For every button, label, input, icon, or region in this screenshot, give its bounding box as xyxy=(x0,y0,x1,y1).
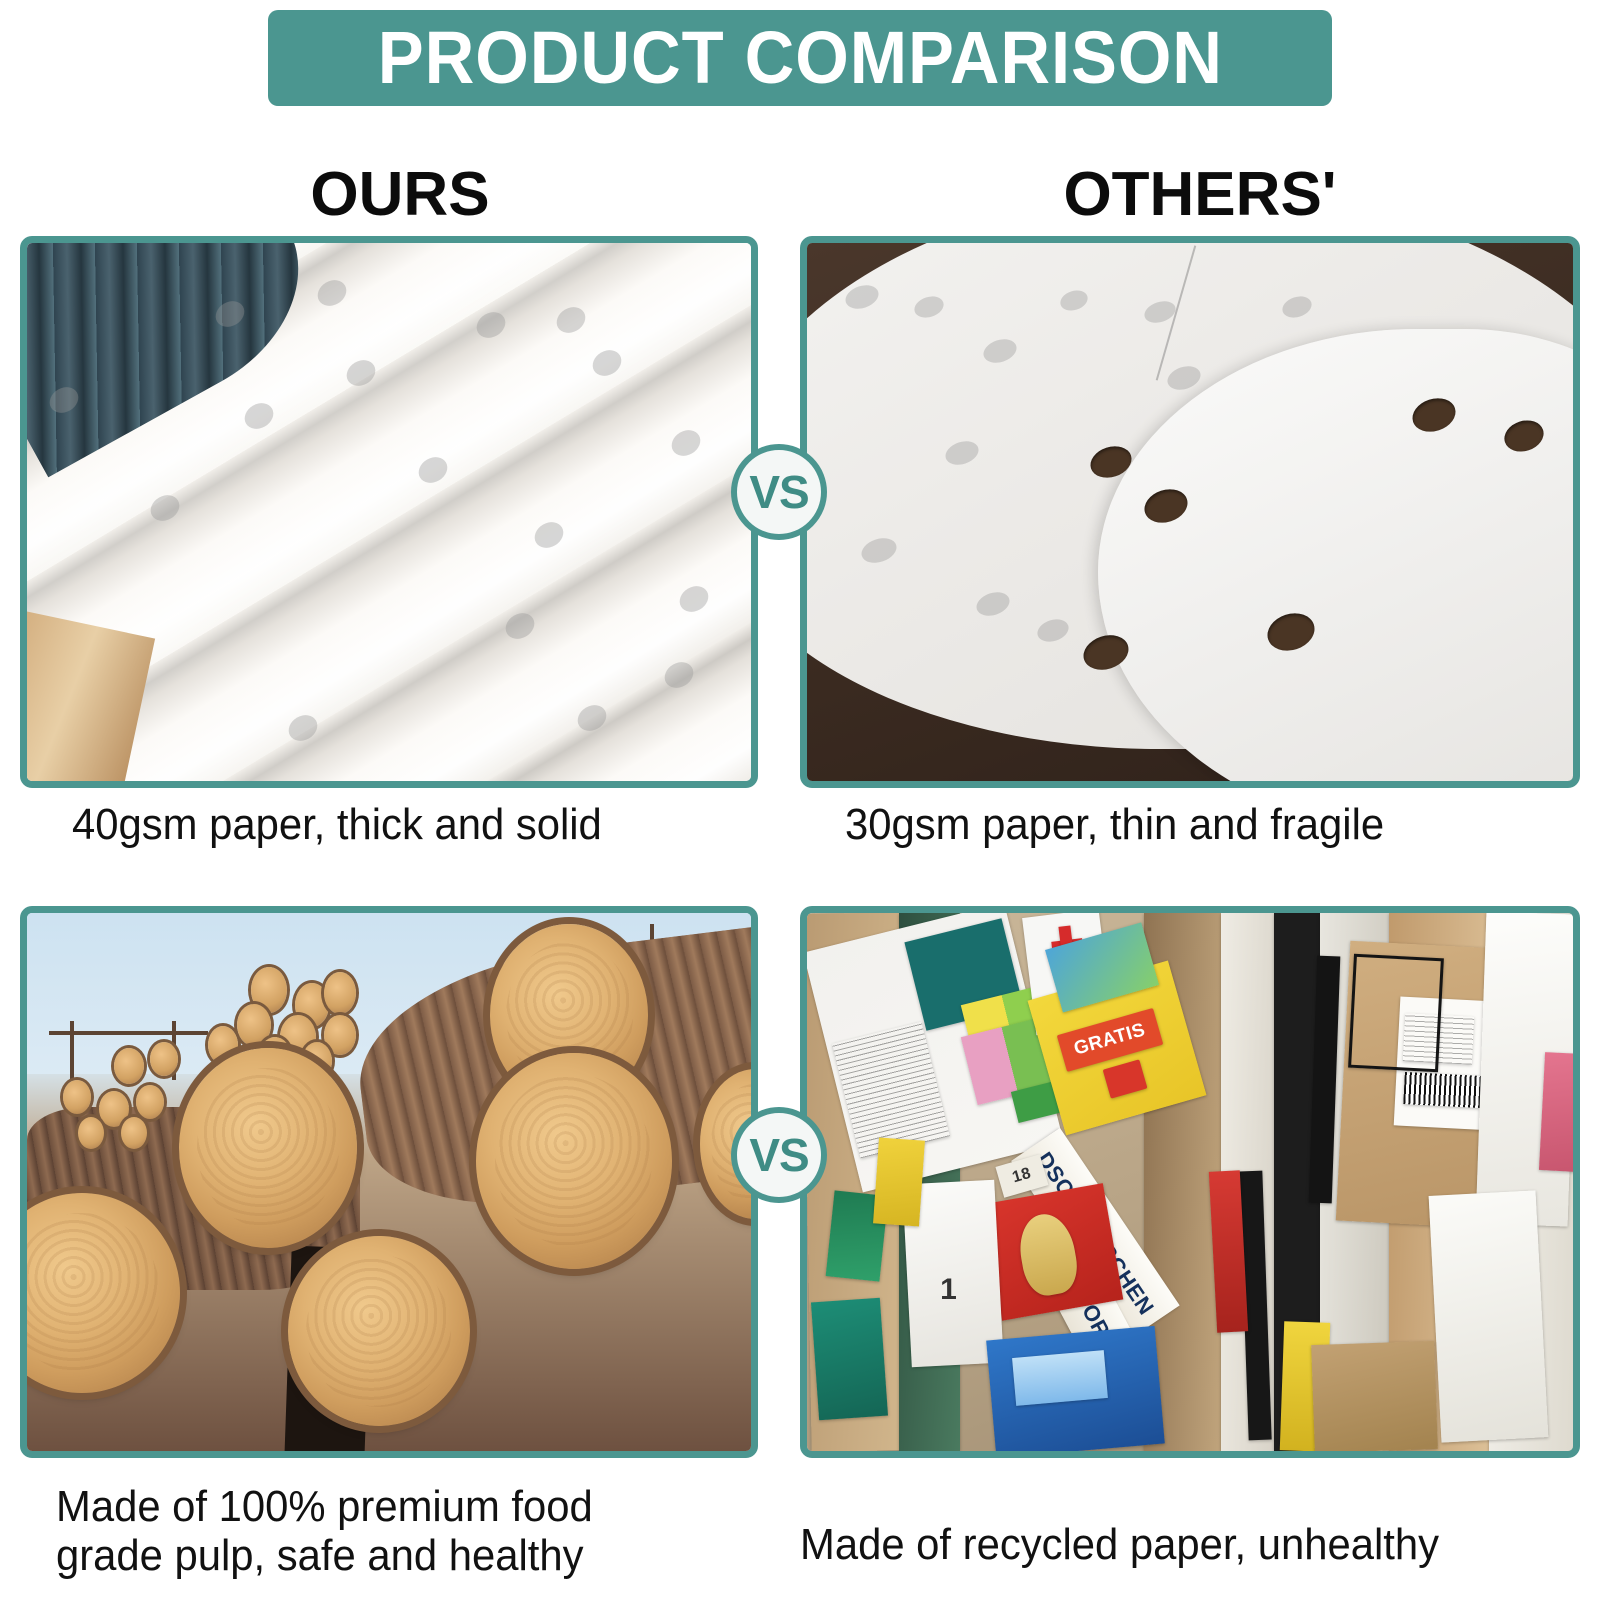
log-end-small xyxy=(136,1085,164,1119)
caption-ours-paper: 40gsm paper, thick and solid xyxy=(72,800,756,849)
image-panel-ours-paper xyxy=(20,236,758,788)
caption-ours-material: Made of 100% premium food grade pulp, sa… xyxy=(56,1482,721,1581)
log-end-small xyxy=(150,1042,178,1076)
page-title-banner: PRODUCT COMPARISON xyxy=(268,10,1332,106)
photo-thin-parchment-paper xyxy=(807,243,1573,781)
caption-others-paper: 30gsm paper, thin and fragile xyxy=(845,800,1548,849)
barcode-icon xyxy=(1404,1072,1482,1108)
vs-badge-row-1: VS xyxy=(731,444,827,540)
brown-box-scrap xyxy=(1311,1341,1437,1451)
photo-thick-parchment-paper xyxy=(27,243,751,781)
image-panel-others-paper xyxy=(800,236,1580,788)
image-panel-ours-material xyxy=(20,906,758,1458)
photo-recycled-paper-waste: GRATIS DSCHLÖSSCHEN ORIGI 18 1 xyxy=(807,913,1573,1451)
image-panel-others-material: GRATIS DSCHLÖSSCHEN ORIGI 18 1 xyxy=(800,906,1580,1458)
photo-timber-logs xyxy=(27,913,751,1451)
number-one-label: 1 xyxy=(930,1268,968,1311)
log-end-small xyxy=(63,1080,91,1114)
pink-scrap xyxy=(1539,1052,1573,1172)
log-end-large xyxy=(179,1048,357,1248)
caption-others-material: Made of recycled paper, unhealthy xyxy=(800,1520,1560,1569)
column-heading-ours: OURS xyxy=(20,160,780,230)
yellow-scrap xyxy=(873,1137,925,1226)
log-end-small xyxy=(78,1117,104,1149)
teal-scrap xyxy=(811,1298,888,1421)
black-frame-scrap xyxy=(1348,954,1444,1072)
log-end-small xyxy=(324,972,356,1014)
vs-badge-row-2: VS xyxy=(731,1107,827,1203)
blue-box-highlight xyxy=(1012,1350,1108,1406)
column-heading-others: OTHERS' xyxy=(820,160,1580,230)
page-title: PRODUCT COMPARISON xyxy=(377,21,1222,95)
pole-vertical xyxy=(70,1021,74,1080)
log-end-large xyxy=(476,1053,672,1269)
log-end-small xyxy=(114,1048,144,1084)
white-sheet-scrap xyxy=(1429,1190,1549,1443)
log-end-large xyxy=(288,1236,470,1426)
